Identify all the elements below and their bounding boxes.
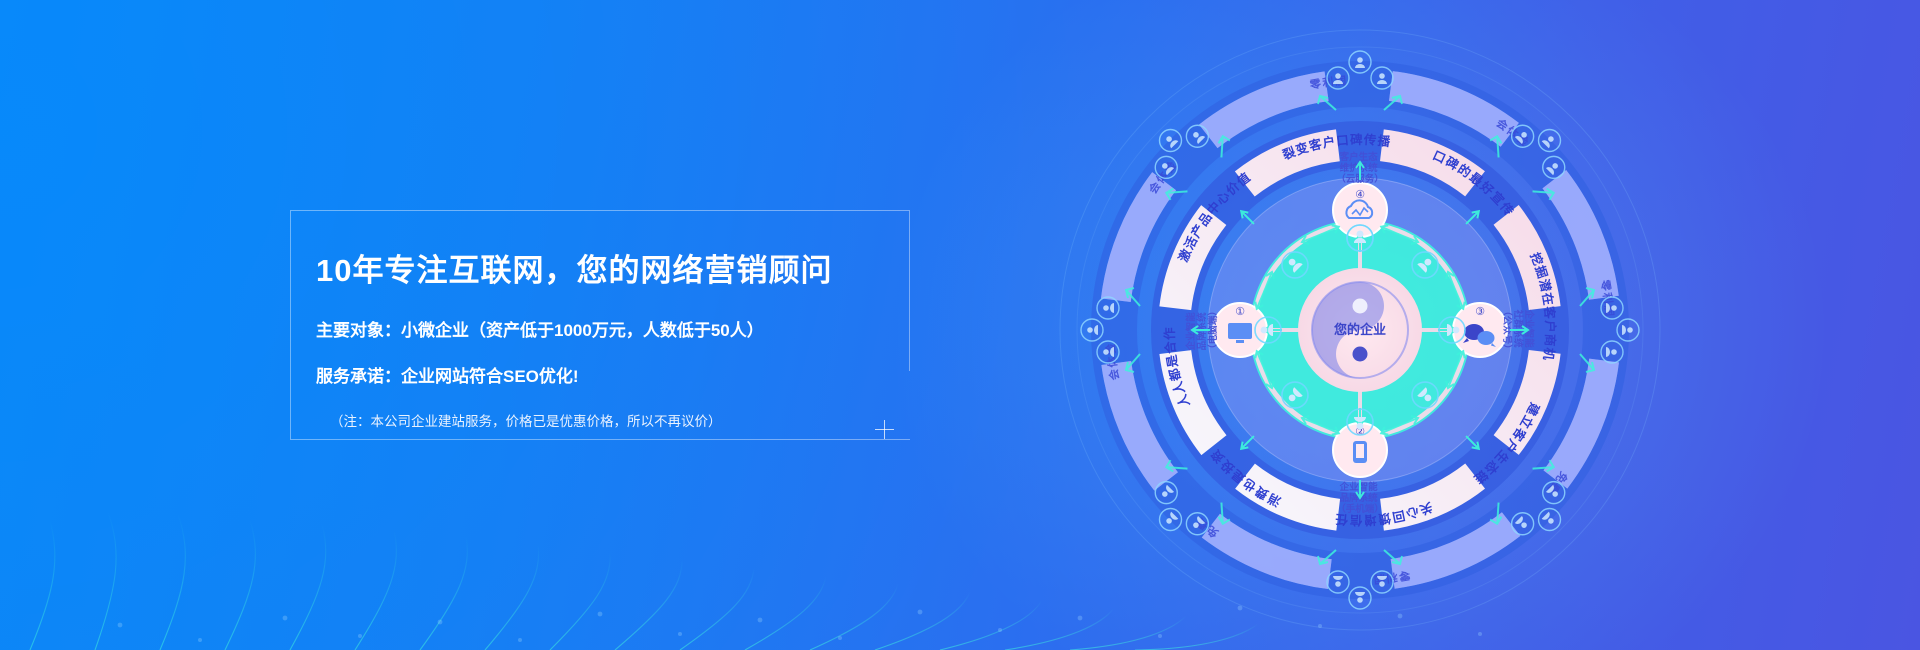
node-monitor[interactable]: ① [1213, 303, 1267, 357]
node-4-number: ④ [1355, 189, 1365, 201]
ecosystem-diagram: 您的企业 ① ② ③ [1050, 20, 1670, 640]
core-label: 您的企业 [1334, 322, 1386, 337]
node-1-number: ① [1235, 306, 1245, 318]
node-wechat[interactable]: ③ [1453, 303, 1507, 357]
mobile-icon [1353, 441, 1367, 463]
node-cloud[interactable]: ④ [1333, 183, 1387, 237]
hero-banner: 10年专注互联网，您的网络营销顾问 主要对象：小微企业（资产低于1000万元，人… [0, 0, 1920, 650]
plus-marker-icon [875, 420, 894, 439]
node-4-label-a: 客户生态 [1339, 151, 1379, 163]
target-audience-line: 主要对象：小微企业（资产低于1000万元，人数低于50人） [316, 316, 896, 341]
node-3-label-b: 社群系统 [1512, 309, 1524, 349]
node-1-label-b: 品牌系统 [1196, 312, 1208, 351]
node-3-number: ③ [1475, 306, 1485, 318]
copy-inner: 10年专注互联网，您的网络营销顾问 主要对象：小微企业（资产低于1000万元，人… [316, 245, 896, 430]
service-promise-line: 服务承诺：企业网站符合SEO优化! [316, 362, 896, 387]
pricing-note: （注：本公司企业建站服务，价格已是优惠价格，所以不再议价） [330, 410, 896, 430]
node-2-label-a: 企业智能 [1339, 481, 1379, 493]
page-title: 10年专注互联网，您的网络营销顾问 [316, 245, 896, 290]
node-mobile[interactable]: ② [1333, 423, 1387, 477]
copy-frame: 10年专注互联网，您的网络营销顾问 主要对象：小微企业（资产低于1000万元，人… [290, 210, 910, 440]
